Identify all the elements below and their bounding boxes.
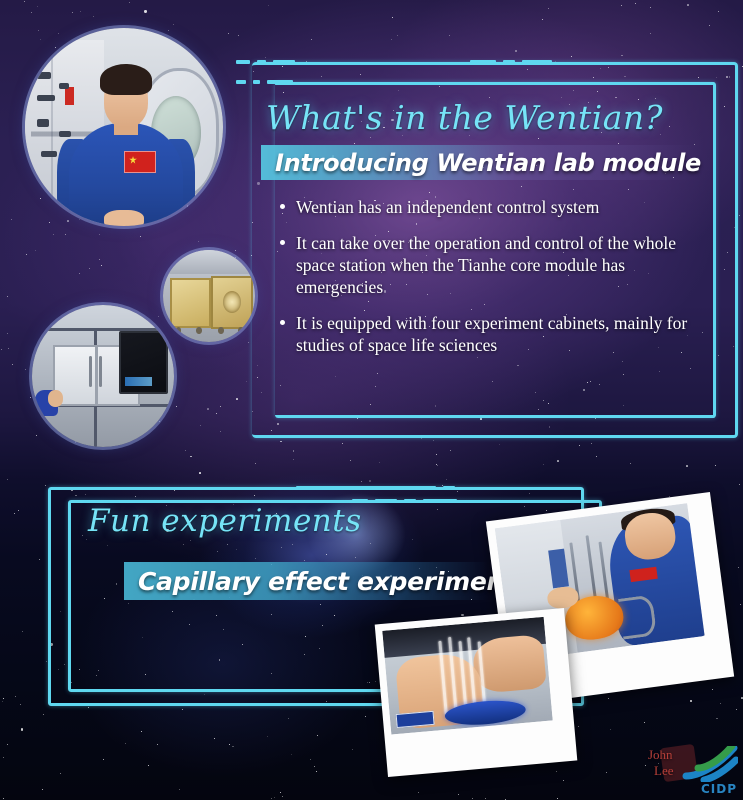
top-frame-dashes-top (470, 60, 552, 64)
watermark-brand: CIDP (701, 782, 737, 796)
top-frame-dashes-left-inner (236, 80, 293, 84)
bottom-frame-dashes-upper (296, 486, 455, 490)
top-script-title: What's in the Wentian? (266, 98, 663, 137)
bottom-script-title: Fun experiments (88, 503, 362, 539)
wifi-signal-icon (682, 746, 738, 782)
top-frame-dashes-left (236, 60, 295, 64)
bottom-frame-dashes-lower (352, 499, 457, 503)
watermark-name-line1: John (648, 748, 673, 762)
feature-bullet-list: Wentian has an independent control syste… (278, 196, 696, 370)
list-item: It is equipped with four experiment cabi… (278, 312, 696, 356)
bottom-banner-heading: Capillary effect experiment (124, 562, 488, 600)
capillary-glass-tubes-photo (375, 608, 578, 777)
list-item: It can take over the operation and contr… (278, 232, 696, 298)
top-banner-heading: Introducing Wentian lab module (261, 145, 699, 180)
astronaut-portrait-photo (25, 28, 223, 226)
list-item: Wentian has an independent control syste… (278, 196, 696, 218)
gold-cabinet-photo (163, 250, 255, 342)
watermark: John Lee CIDP (648, 744, 740, 796)
watermark-name-line2: Lee (654, 764, 673, 778)
lab-module-interior-photo (32, 305, 174, 447)
infographic-poster: What's in the Wentian? Introducing Wenti… (0, 0, 743, 800)
